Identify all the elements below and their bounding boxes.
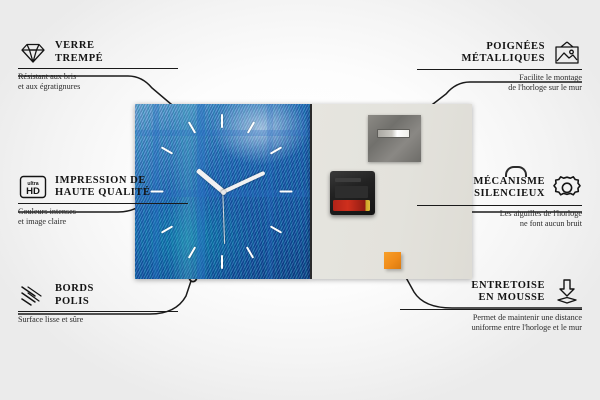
metal-hanger-plate [368,115,421,162]
clock-tick [246,246,254,258]
callout-rule [18,68,178,69]
clock-tick [161,146,173,154]
clock-tick [221,114,223,128]
battery [333,200,370,211]
callout-desc-line: et aux égratignures [18,82,198,92]
callout-desc-line: Surface lisse et sûre [18,315,198,325]
callout-desc-line: Les aiguilles de l'horloge [392,209,582,219]
callout-desc-line: et image claire [18,217,208,227]
clock-tick [188,246,196,258]
clock-second-hand [222,192,225,244]
mechanism-detail [335,186,368,198]
callout-impression-haute-qualite: ultra HD IMPRESSION DE HAUTE QUALITÉ Cou… [18,174,208,227]
callout-desc-line: uniforme entre l'horloge et le mur [382,323,582,333]
callout-desc-line: de l'horloge sur le mur [392,83,582,93]
callout-desc-line: Couleurs intenses [18,207,208,217]
polished-edges-icon [18,284,48,308]
callout-desc-line: Permet de maintenir une distance [382,313,582,323]
quartz-mechanism [330,171,375,215]
callout-title-row: VERRE TREMPÉ [18,40,198,65]
callout-rule [400,309,582,310]
svg-text:HD: HD [26,186,40,197]
gear-icon [552,174,582,202]
print-stripe [135,130,310,136]
foam-spacer-icon [552,278,582,306]
callout-mecanisme-silencieux: MÉCANISME SILENCIEUX Les aiguilles de l'… [392,174,582,229]
infographic-canvas: VERRE TREMPÉ Résistant aux bris et aux é… [0,0,600,400]
callout-title-row: ENTRETOISE EN MOUSSE [382,278,582,306]
callout-rule [417,205,582,206]
callout-title-text: IMPRESSION DE HAUTE QUALITÉ [55,175,151,200]
callout-title-text: BORDS POLIS [55,283,94,308]
callout-entretoise-en-mousse: ENTRETOISE EN MOUSSE Permet de maintenir… [382,278,582,333]
callout-title-row: MÉCANISME SILENCIEUX [392,174,582,202]
callout-bords-polis: BORDS POLIS Surface lisse et sûre [18,283,198,325]
callout-rule [18,311,178,312]
callout-title-text: POIGNÉES MÉTALLIQUES [462,41,545,66]
callout-desc-line: Facilite le montage [392,73,582,83]
callout-rule [417,69,582,70]
clock-hand-cap [221,190,226,195]
diamond-icon [18,41,48,65]
callout-desc-line: Résistant aux bris [18,72,198,82]
callout-rule [18,203,188,204]
callout-desc-line: ne font aucun bruit [392,219,582,229]
clock-tick [280,191,293,193]
mechanism-detail [335,178,361,182]
wall-frame-icon [552,40,582,66]
foam-spacer [384,252,401,269]
ultra-hd-icon: ultra HD [18,174,48,200]
callout-title-row: ultra HD IMPRESSION DE HAUTE QUALITÉ [18,174,208,200]
callout-title-text: VERRE TREMPÉ [55,40,103,65]
callout-title-text: ENTRETOISE EN MOUSSE [471,280,545,305]
callout-title-row: BORDS POLIS [18,283,198,308]
clock-tick [221,255,223,269]
callout-title-text: MÉCANISME SILENCIEUX [474,176,545,201]
callout-title-row: POIGNÉES MÉTALLIQUES [392,40,582,66]
hanger-slot [377,129,410,138]
callout-verre-trempe: VERRE TREMPÉ Résistant aux bris et aux é… [18,40,198,92]
callout-poignees-metalliques: POIGNÉES MÉTALLIQUES Facilite le montage… [392,40,582,93]
